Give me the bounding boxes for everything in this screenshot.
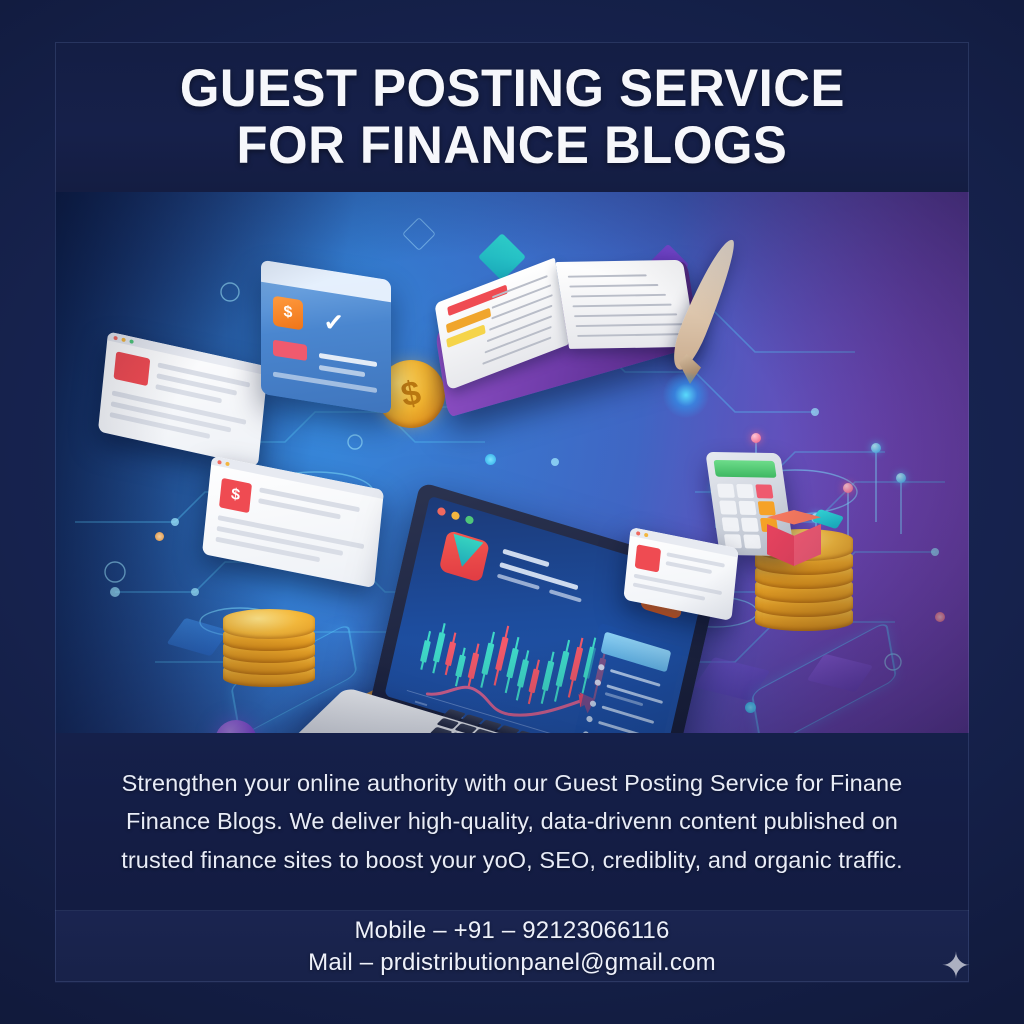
- poster-canvas: GUEST POSTING SERVICE FOR FINANCE BLOGS: [0, 0, 1024, 1024]
- description-band: Strengthen your online authority with ou…: [55, 733, 969, 910]
- description-text: Strengthen your online authority with ou…: [97, 764, 927, 878]
- ai-sparkle-watermark: ✦: [938, 948, 974, 984]
- contact-footer: Mobile – +91 – 92123066116 Mail – prdist…: [55, 910, 969, 983]
- title-band: GUEST POSTING SERVICE FOR FINANCE BLOGS: [55, 42, 969, 192]
- vignette-overlay: [55, 192, 969, 733]
- contact-mobile: Mobile – +91 – 92123066116: [354, 915, 669, 947]
- page-title-line-1: GUEST POSTING SERVICE: [179, 60, 844, 117]
- contact-mail: Mail – prdistributionpanel@gmail.com: [308, 947, 716, 979]
- page-title-line-2: FOR FINANCE BLOGS: [237, 117, 788, 174]
- illustration-panel: ✓ $ $: [55, 192, 969, 733]
